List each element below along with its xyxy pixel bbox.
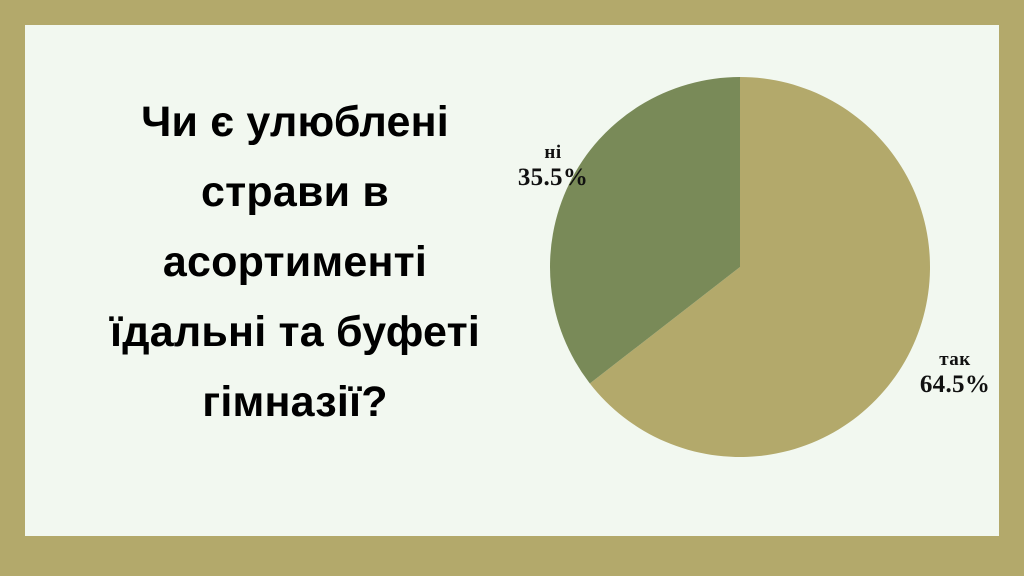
slide-canvas: Чи є улюблені страви в асортименті їдаль… [0, 0, 1024, 576]
pie-label-tak-value: 64.5% [900, 371, 999, 398]
pie-label-ni-value: 35.5% [493, 164, 613, 191]
pie-label-ni: ні 35.5% [493, 143, 613, 191]
slide-inner-panel: Чи є улюблені страви в асортименті їдаль… [25, 25, 999, 536]
pie-label-tak-name: так [900, 350, 999, 371]
pie-label-tak: так 64.5% [900, 350, 999, 398]
pie-chart-graphic [540, 67, 940, 467]
pie-chart: ні 35.5% так 64.5% [25, 25, 999, 536]
pie-label-ni-name: ні [493, 143, 613, 164]
